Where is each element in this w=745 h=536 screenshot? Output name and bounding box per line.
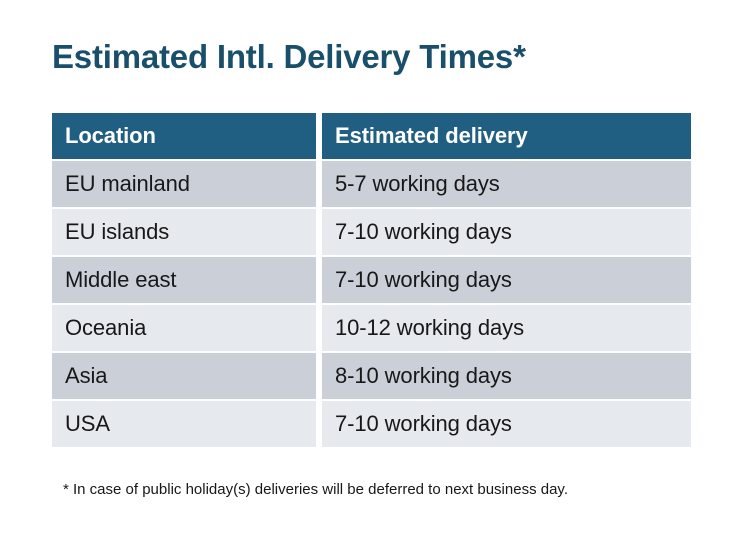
table-cell-delivery-value: 5-7 working days xyxy=(335,171,500,197)
table-cell-location-value: Middle east xyxy=(65,267,176,293)
table-cell-location: Middle east xyxy=(52,257,316,303)
table-row: Middle east 7-10 working days xyxy=(52,257,691,303)
table-row: EU mainland 5-7 working days xyxy=(52,161,691,207)
table-cell-location: EU mainland xyxy=(52,161,316,207)
table-cell-delivery-value: 10-12 working days xyxy=(335,315,524,341)
delivery-times-table: Location Estimated delivery EU mainland … xyxy=(52,113,691,447)
table-cell-delivery: 10-12 working days xyxy=(322,305,691,351)
table-cell-location: Oceania xyxy=(52,305,316,351)
table-row: USA 7-10 working days xyxy=(52,401,691,447)
table-cell-location-value: USA xyxy=(65,411,110,437)
table-cell-location-value: Oceania xyxy=(65,315,146,341)
table-header-cell-delivery: Estimated delivery xyxy=(322,113,691,159)
table-row: Asia 8-10 working days xyxy=(52,353,691,399)
table-row: Oceania 10-12 working days xyxy=(52,305,691,351)
table-cell-delivery: 7-10 working days xyxy=(322,257,691,303)
delivery-times-page: Estimated Intl. Delivery Times* Location… xyxy=(0,0,745,536)
table-cell-delivery: 7-10 working days xyxy=(322,209,691,255)
page-title: Estimated Intl. Delivery Times* xyxy=(52,36,526,78)
table-cell-location-value: EU islands xyxy=(65,219,169,245)
table-cell-delivery-value: 7-10 working days xyxy=(335,267,512,293)
table-cell-delivery-value: 7-10 working days xyxy=(335,219,512,245)
table-cell-location-value: EU mainland xyxy=(65,171,190,197)
table-cell-delivery: 5-7 working days xyxy=(322,161,691,207)
footnote-text: * In case of public holiday(s) deliverie… xyxy=(63,480,568,500)
table-row: EU islands 7-10 working days xyxy=(52,209,691,255)
table-cell-delivery: 8-10 working days xyxy=(322,353,691,399)
table-cell-delivery-value: 8-10 working days xyxy=(335,363,512,389)
table-cell-location: EU islands xyxy=(52,209,316,255)
table-cell-delivery-value: 7-10 working days xyxy=(335,411,512,437)
table-cell-location-value: Asia xyxy=(65,363,107,389)
table-cell-location: USA xyxy=(52,401,316,447)
table-cell-delivery: 7-10 working days xyxy=(322,401,691,447)
table-header-row: Location Estimated delivery xyxy=(52,113,691,159)
table-cell-location: Asia xyxy=(52,353,316,399)
table-header-cell-location: Location xyxy=(52,113,316,159)
table-header-label-delivery: Estimated delivery xyxy=(335,123,528,149)
table-header-label-location: Location xyxy=(65,123,156,149)
